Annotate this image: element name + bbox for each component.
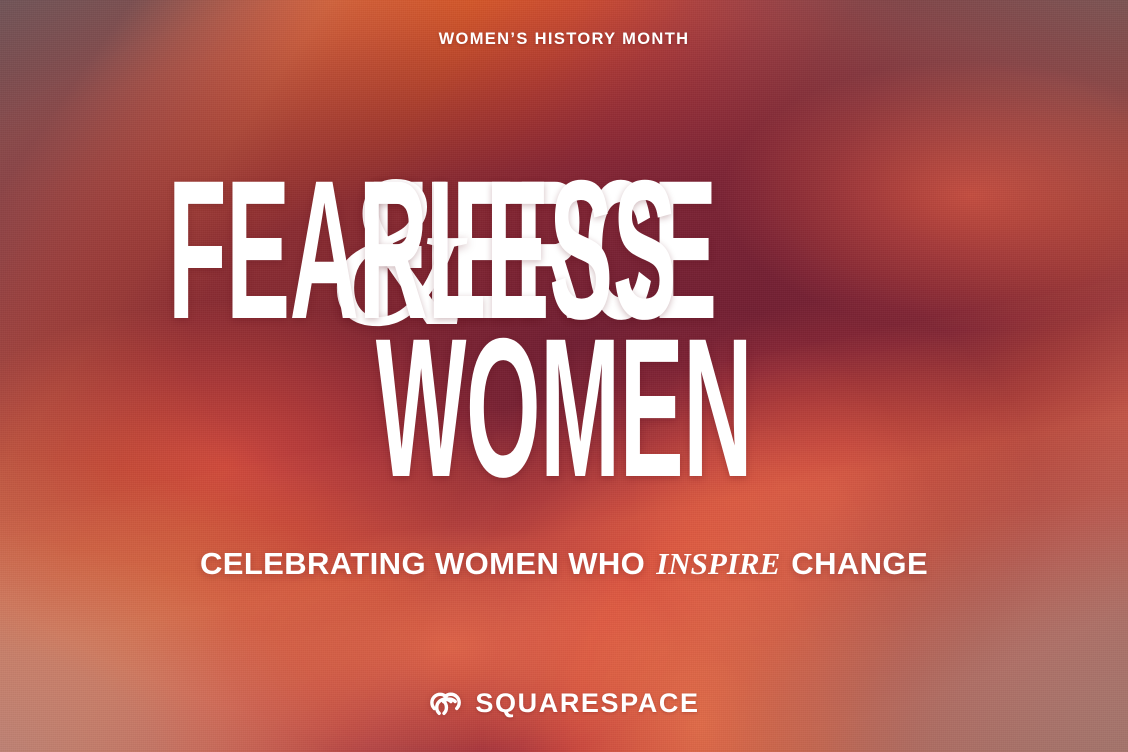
poster-content: WOMEN’S HISTORY MONTH FIERCE & FEARLESS … [0, 0, 1128, 752]
subtitle-after: CHANGE [791, 546, 928, 581]
kicker-text: WOMEN’S HISTORY MONTH [0, 31, 1128, 48]
headline: FIERCE & FEARLESS WOMEN [0, 152, 1128, 494]
womens-history-month-poster: WOMEN’S HISTORY MONTH FIERCE & FEARLESS … [0, 0, 1128, 752]
squarespace-logo-mark [428, 688, 462, 718]
squarespace-logo-lockup: SQUARESPACE [0, 688, 1128, 718]
subtitle-emphasis: INSPIRE [654, 546, 782, 581]
subtitle: CELEBRATING WOMEN WHO INSPIRE CHANGE [0, 548, 1128, 579]
squarespace-wordmark: SQUARESPACE [475, 690, 699, 717]
subtitle-before: CELEBRATING WOMEN WHO [200, 546, 645, 581]
headline-word-women: WOMEN [376, 323, 752, 493]
